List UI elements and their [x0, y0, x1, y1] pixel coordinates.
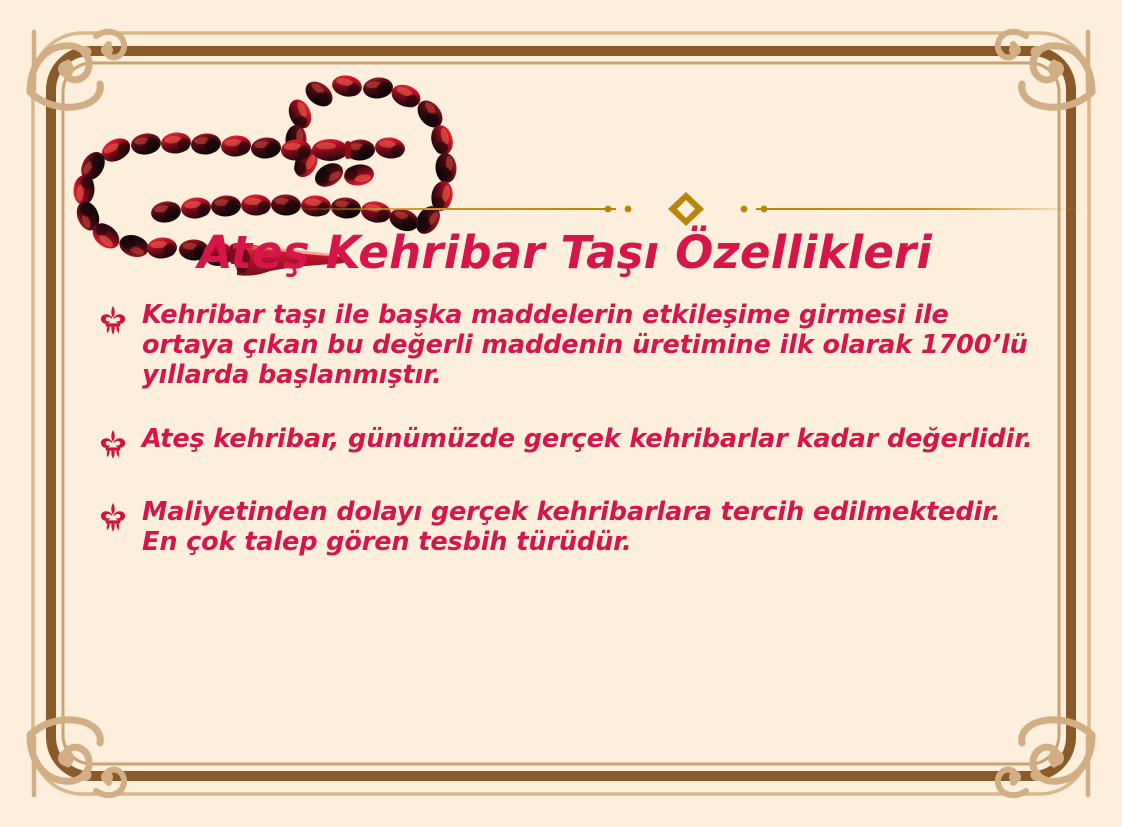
- fleur-de-lis-icon: [100, 305, 130, 339]
- corner-flourish-top-right: [998, 32, 1092, 107]
- page-title: Ateş Kehribar Taşı Özellikleri: [170, 226, 960, 279]
- fleur-de-lis-icon: [100, 429, 130, 463]
- fleur-de-lis-icon: [100, 502, 130, 536]
- list-item: Kehribar taşı ile başka maddelerin etkil…: [100, 300, 1040, 390]
- feature-list: Kehribar taşı ile başka maddelerin etkil…: [100, 300, 1040, 557]
- corner-flourish-bottom-left: [30, 720, 124, 795]
- poster-canvas: Ateş Kehribar Taşı Özellikleri Kehri: [0, 0, 1122, 827]
- list-item: Ateş kehribar, günümüzde gerçek kehribar…: [100, 424, 1040, 463]
- corner-flourish-bottom-right: [998, 720, 1092, 795]
- list-item-text: Kehribar taşı ile başka maddelerin etkil…: [142, 300, 1040, 390]
- imame-bead: [312, 139, 351, 161]
- divider-svg: [286, 192, 1086, 226]
- list-item-text: Ateş kehribar, günümüzde gerçek kehribar…: [142, 424, 1040, 454]
- list-item-text: Maliyetinden dolayı gerçek kehribarlara …: [142, 497, 1040, 557]
- diamond-divider-ornament: [286, 192, 1086, 226]
- list-item: Maliyetinden dolayı gerçek kehribarlara …: [100, 497, 1040, 557]
